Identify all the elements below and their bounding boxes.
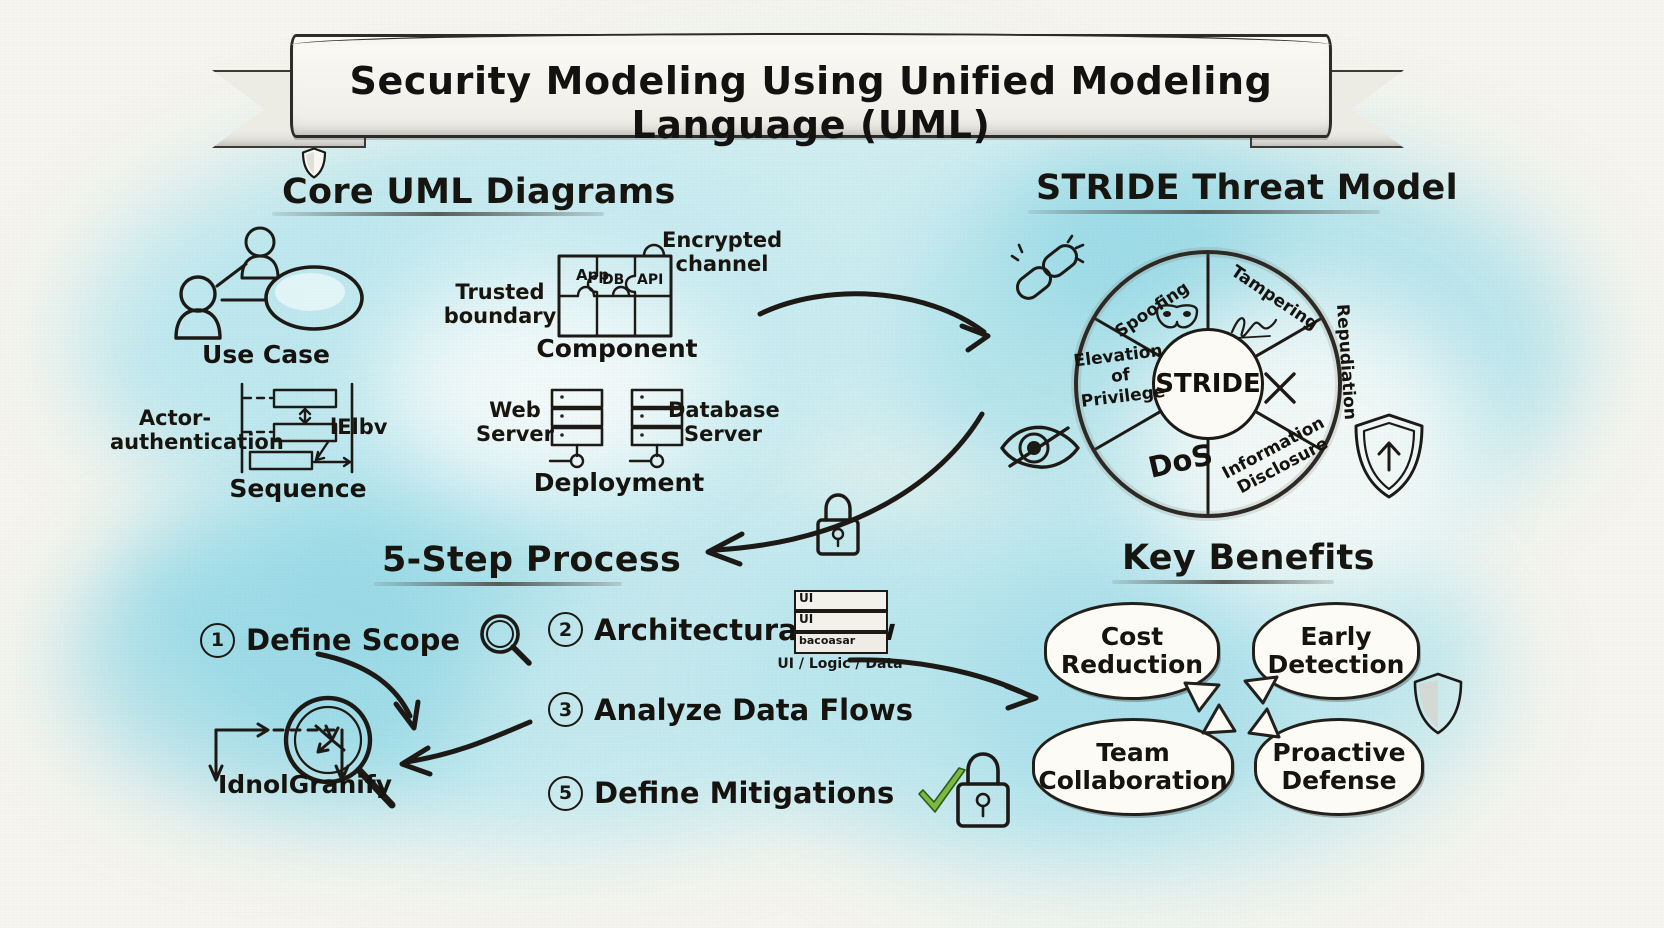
section-heading-benefits: Key Benefits <box>1122 538 1375 578</box>
component-diagram: App DB API <box>556 244 678 340</box>
step-label-5: Define Mitigations <box>594 776 894 810</box>
infographic-canvas: Security Modeling Using Unified Modeling… <box>0 0 1664 928</box>
stride-hub: STRIDE <box>1152 328 1264 440</box>
heading-rule-core-uml <box>272 212 604 216</box>
step-label-1: Define Scope <box>246 623 460 657</box>
step-number-3: 3 <box>548 692 583 727</box>
broken-chain-icon <box>1008 238 1084 310</box>
section-heading-process: 5-Step Process <box>382 540 681 580</box>
magnifier-icon <box>477 612 533 668</box>
benefit-line2-4: Defense <box>1281 766 1396 795</box>
benefit-line1-3: Team <box>1096 738 1170 767</box>
arrow-step3-to-identify <box>400 718 534 778</box>
banner-plate: Security Modeling Using Unified Modeling… <box>290 34 1332 138</box>
benefit-line2-2: Detection <box>1268 650 1405 679</box>
benefit-line2-3: Collaboration <box>1038 766 1227 795</box>
deployment-left-note: Web Server <box>468 398 562 447</box>
deployment-diagram <box>548 388 688 476</box>
step-number-2: 2 <box>548 612 583 647</box>
heading-rule-stride <box>1028 210 1380 214</box>
shield-up-arrow-icon <box>1352 412 1426 500</box>
sequence-right-note: lElbv <box>330 415 387 439</box>
benefit-line1-1: Cost <box>1101 622 1163 651</box>
bubble-tail-3 <box>1199 703 1239 735</box>
layer-stack-caption: UI / Logic / Data <box>776 656 904 672</box>
component-label: Component <box>518 334 716 363</box>
benefit-bubble-early-detection[interactable]: Early Detection <box>1252 602 1420 700</box>
mask-icon <box>1155 303 1199 331</box>
step-number-1: 1 <box>200 623 235 658</box>
svg-text:DB: DB <box>602 272 624 288</box>
step-number-5: 5 <box>548 776 583 811</box>
x-mark-icon <box>1262 370 1298 406</box>
padlock-icon-2 <box>952 750 1014 830</box>
use-case-diagram <box>170 222 365 342</box>
identify-label: IdnolGranify <box>218 770 392 799</box>
arrow-uml-to-stride <box>756 288 1006 358</box>
benefit-bubble-team-collaboration[interactable]: Team Collaboration <box>1032 718 1234 816</box>
benefits-shield-icon <box>1412 672 1464 736</box>
bubble-tail-2 <box>1239 675 1279 707</box>
sequence-label: Sequence <box>200 474 396 503</box>
svg-text:API: API <box>637 272 663 288</box>
layer-row-2-label: UI <box>799 612 813 626</box>
actor-primary <box>176 277 220 338</box>
use-case-label: Use Case <box>168 340 364 369</box>
page-title: Security Modeling Using Unified Modeling… <box>350 59 1273 147</box>
stride-wheel: STRIDE Spoofing Tampering Repudiation In… <box>1072 248 1344 520</box>
process-step-5[interactable]: 5 Define Mitigations <box>548 768 969 818</box>
process-step-1[interactable]: 1 Define Scope <box>200 612 533 668</box>
padlock-icon <box>812 492 864 558</box>
benefit-bubble-proactive-defense[interactable]: Proactive Defense <box>1254 718 1424 816</box>
benefit-line1-2: Early <box>1300 622 1371 651</box>
heading-rule-benefits <box>1112 580 1334 584</box>
benefit-line1-4: Proactive <box>1272 738 1405 767</box>
layer-stack-icon: UI UI bacoasar <box>794 590 886 652</box>
stride-wedge-elevation-of-privilege: Elevation of Privilege <box>1073 341 1169 413</box>
section-heading-stride: STRIDE Threat Model <box>1036 168 1458 208</box>
benefit-bubble-cost-reduction[interactable]: Cost Reduction <box>1044 602 1220 700</box>
bubble-tail-4 <box>1241 707 1281 739</box>
section-heading-core-uml: Core UML Diagrams <box>282 172 676 212</box>
signature-icon <box>1230 314 1278 340</box>
deployment-label: Deployment <box>520 468 718 497</box>
crossed-eye-icon <box>998 418 1082 476</box>
actor-secondary <box>242 228 278 278</box>
component-right-note: Encrypted channel <box>662 228 782 277</box>
component-left-note: Trusted boundary <box>440 280 560 329</box>
layer-row-1-label: UI <box>799 591 813 605</box>
heading-rule-process <box>374 582 622 586</box>
sequence-left-note: Actor- authentication <box>110 406 240 455</box>
step-label-3: Analyze Data Flows <box>594 693 913 727</box>
title-banner: Security Modeling Using Unified Modeling… <box>212 28 1404 146</box>
layer-row-3-label: bacoasar <box>799 634 855 647</box>
benefit-line2-1: Reduction <box>1061 650 1203 679</box>
process-step-3[interactable]: 3 Analyze Data Flows <box>548 692 913 727</box>
